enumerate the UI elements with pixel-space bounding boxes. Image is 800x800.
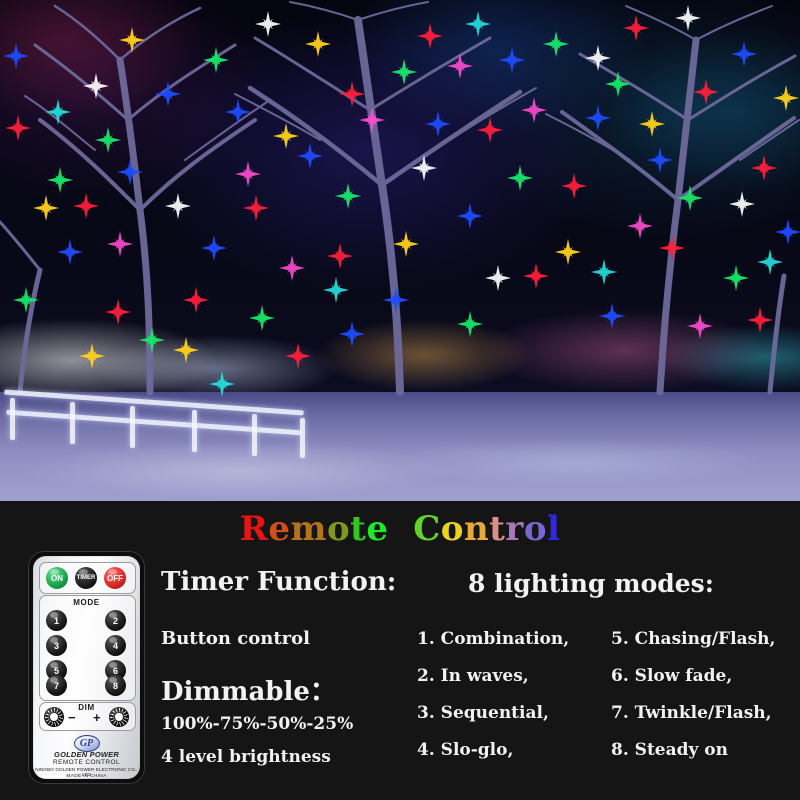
title-letter: R: [240, 509, 269, 549]
title-letter: t: [350, 509, 366, 549]
brand-product: REMOTE CONTROL: [33, 759, 140, 766]
mode-button-8[interactable]: 8: [105, 675, 126, 696]
dimmable-levels: 100%-75%-50%-25%: [161, 714, 353, 734]
white-fence: [0, 396, 330, 458]
title-letter: o: [327, 509, 350, 549]
list-item: 6. Slow fade,: [611, 661, 775, 698]
timer-heading: Timer Function:: [161, 567, 396, 597]
dim-down-icon[interactable]: [44, 707, 64, 727]
timer-detail: Button control: [161, 628, 310, 649]
dimmable-heading: Dimmable：: [161, 671, 336, 708]
title-letter: r: [505, 509, 523, 549]
dim-up-icon[interactable]: [109, 707, 129, 727]
list-item: 4. Slo-glo,: [417, 735, 569, 772]
list-item: 1. Combination,: [417, 624, 569, 661]
modes-heading: 8 lighting modes:: [468, 569, 714, 598]
brand-name: GOLDEN POWER: [33, 750, 140, 759]
off-button[interactable]: OFF: [104, 567, 126, 589]
title-letter: C: [413, 509, 441, 549]
remote-control-device: ON TIMER OFF MODE 1 2 3 4 5 6 7 8 DIM − …: [28, 551, 145, 784]
list-item: 7. Twinkle/Flash,: [611, 698, 775, 735]
modes-list-right: 5. Chasing/Flash, 6. Slow fade, 7. Twink…: [611, 624, 775, 772]
mode-button-7[interactable]: 7: [46, 675, 67, 696]
title-letter: e: [366, 509, 388, 549]
list-item: 8. Steady on: [611, 735, 775, 772]
on-button[interactable]: ON: [46, 567, 68, 589]
product-infographic: Remote Control ON TIMER OFF MODE 1 2 3 4…: [0, 0, 800, 800]
mode-button-2[interactable]: 2: [105, 610, 126, 631]
brand-origin: MADE IN CHINA: [33, 774, 140, 779]
dim-minus-sign: −: [68, 710, 76, 725]
title-letter: [389, 509, 414, 549]
mode-button-3[interactable]: 3: [46, 635, 67, 656]
list-item: 2. In waves,: [417, 661, 569, 698]
modes-list-left: 1. Combination, 2. In waves, 3. Sequenti…: [417, 624, 569, 772]
list-item: 5. Chasing/Flash,: [611, 624, 775, 661]
page-title: Remote Control: [0, 509, 800, 549]
list-item: 3. Sequential,: [417, 698, 569, 735]
title-letter: o: [524, 509, 547, 549]
title-letter: l: [547, 509, 560, 549]
title-letter: n: [464, 509, 489, 549]
mode-button-1[interactable]: 1: [46, 610, 67, 631]
title-letter: e: [268, 509, 290, 549]
title-letter: t: [489, 509, 505, 549]
mode-button-4[interactable]: 4: [105, 635, 126, 656]
dimmable-detail: 4 level brightness: [161, 747, 331, 767]
title-letter: m: [290, 509, 326, 549]
christmas-lights-night-photo: [0, 0, 800, 501]
timer-button[interactable]: TIMER: [75, 567, 97, 589]
dim-plus-sign: +: [93, 710, 101, 725]
remote-faceplate: ON TIMER OFF MODE 1 2 3 4 5 6 7 8 DIM − …: [33, 556, 140, 779]
mode-label: MODE: [33, 598, 140, 607]
title-letter: o: [441, 509, 464, 549]
